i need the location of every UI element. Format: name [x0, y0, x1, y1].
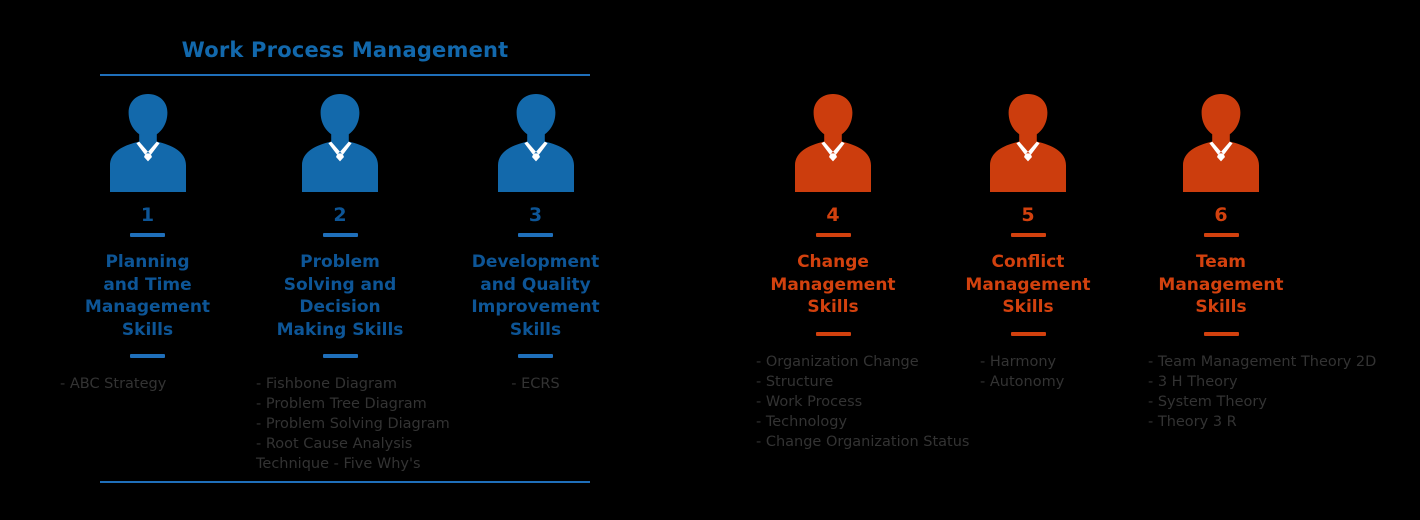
list-item: - ABC Strategy: [60, 374, 235, 394]
number-underline-bar: [130, 233, 165, 237]
businessman-silhouette-icon: [60, 92, 235, 192]
number-underline-bar: [1204, 233, 1239, 237]
businessman-silhouette-icon: [443, 92, 628, 192]
list-item: - Change Organization Status: [756, 432, 924, 452]
column-number: 2: [250, 206, 430, 225]
section-title-work-process-management: Work Process Management: [100, 38, 590, 62]
panel-work-process-management: Work Process Management 1 Planning and T…: [0, 0, 700, 520]
title-underline-bar: [816, 332, 851, 336]
list-item: - Technology: [756, 412, 924, 432]
bullet-list: - Team Management Theory 2D - 3 H Theory…: [1148, 352, 1312, 432]
title-underline-bar: [1011, 332, 1046, 336]
list-item: - Problem Tree Diagram: [256, 394, 430, 414]
column-4[interactable]: 4 Change Management Skills - Organizatio…: [742, 92, 924, 452]
list-item: - Organization Change: [756, 352, 924, 372]
column-title: Planning and Time Management Skills: [60, 251, 235, 341]
list-item: - Problem Solving Diagram: [256, 414, 430, 434]
column-number: 1: [60, 206, 235, 225]
businessman-silhouette-icon: [742, 92, 924, 192]
divider-bottom-blue: [100, 481, 590, 483]
bullet-list: - Organization Change - Structure - Work…: [756, 352, 924, 452]
infographic-canvas: Work Process Management 1 Planning and T…: [0, 0, 1420, 520]
column-3[interactable]: 3 Development and Quality Improvement Sk…: [443, 92, 628, 394]
number-underline-bar: [518, 233, 553, 237]
list-item: - System Theory: [1148, 392, 1312, 412]
column-number: 4: [742, 206, 924, 225]
title-underline-bar: [323, 354, 358, 358]
column-title: Team Management Skills: [1130, 251, 1312, 319]
list-item: Technique - Five Why's: [256, 454, 430, 474]
column-title: Conflict Management Skills: [938, 251, 1118, 319]
column-title: Problem Solving and Decision Making Skil…: [250, 251, 430, 341]
list-item: - ECRS: [443, 374, 628, 394]
businessman-silhouette-icon: [250, 92, 430, 192]
column-title: Change Management Skills: [742, 251, 924, 319]
column-number: 6: [1130, 206, 1312, 225]
list-item: - Theory 3 R: [1148, 412, 1312, 432]
column-5[interactable]: 5 Conflict Management Skills - Harmony -…: [938, 92, 1118, 392]
businessman-silhouette-icon: [1130, 92, 1312, 192]
list-item: - 3 H Theory: [1148, 372, 1312, 392]
number-underline-bar: [816, 233, 851, 237]
title-underline-bar: [518, 354, 553, 358]
list-item: - Autonomy: [980, 372, 1118, 392]
list-item: - Fishbone Diagram: [256, 374, 430, 394]
bullet-list: - Fishbone Diagram - Problem Tree Diagra…: [256, 374, 430, 474]
column-title: Development and Quality Improvement Skil…: [443, 251, 628, 341]
list-item: - Harmony: [980, 352, 1118, 372]
bullet-list: - Harmony - Autonomy: [980, 352, 1118, 392]
bullet-list: - ABC Strategy: [60, 374, 235, 394]
column-number: 5: [938, 206, 1118, 225]
number-underline-bar: [323, 233, 358, 237]
list-item: - Structure: [756, 372, 924, 392]
list-item: - Work Process: [756, 392, 924, 412]
title-underline-bar: [1204, 332, 1239, 336]
column-1[interactable]: 1 Planning and Time Management Skills - …: [60, 92, 235, 394]
title-underline-bar: [130, 354, 165, 358]
divider-top-blue: [100, 74, 590, 76]
list-item: - Team Management Theory 2D: [1148, 352, 1312, 372]
column-2[interactable]: 2 Problem Solving and Decision Making Sk…: [250, 92, 430, 474]
column-6[interactable]: 6 Team Management Skills - Team Manageme…: [1130, 92, 1312, 432]
bullet-list: - ECRS: [443, 374, 628, 394]
column-number: 3: [443, 206, 628, 225]
businessman-silhouette-icon: [938, 92, 1118, 192]
number-underline-bar: [1011, 233, 1046, 237]
list-item: - Root Cause Analysis: [256, 434, 430, 454]
